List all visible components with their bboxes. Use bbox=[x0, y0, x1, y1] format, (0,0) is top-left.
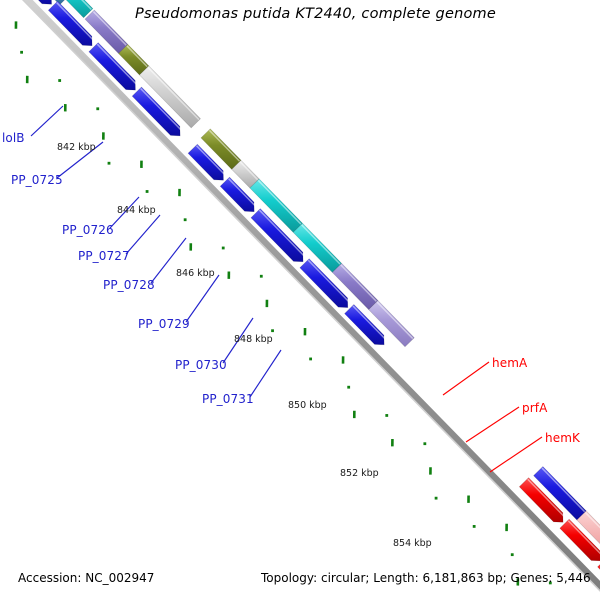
gene-label-pp_0727[interactable]: PP_0727 bbox=[78, 249, 130, 263]
genome-summary-text: Topology: circular; Length: 6,181,863 bp… bbox=[261, 571, 591, 585]
rna-feature-tick bbox=[108, 162, 111, 165]
genome-backbone bbox=[0, 0, 600, 600]
gene-label-pp_0728[interactable]: PP_0728 bbox=[103, 278, 155, 292]
rna-feature-tick bbox=[58, 79, 61, 82]
scale-tick-label: 846 kbp bbox=[176, 268, 215, 279]
gene-label-pp_0726[interactable]: PP_0726 bbox=[62, 223, 114, 237]
leader-line bbox=[186, 275, 219, 322]
rna-feature-tick bbox=[271, 329, 274, 332]
leader-line bbox=[466, 407, 519, 442]
rna-feature-tick bbox=[222, 247, 225, 250]
gene-tracks bbox=[19, 0, 600, 600]
rna-feature-tick bbox=[347, 386, 350, 389]
scale-tick-label: 848 kbp bbox=[234, 334, 273, 345]
gene-label-hemk[interactable]: hemK bbox=[545, 431, 580, 445]
scale-tick-label: 852 kbp bbox=[340, 468, 379, 479]
gene-label-pp_0725[interactable]: PP_0725 bbox=[11, 173, 63, 187]
scale-tick-label: 842 kbp bbox=[57, 142, 96, 153]
rna-feature-tick bbox=[435, 497, 438, 500]
rna-feature-tick bbox=[511, 553, 514, 556]
rna-feature-tick bbox=[473, 525, 476, 528]
rna-feature-tick bbox=[309, 358, 312, 361]
map-title: Pseudomonas putida KT2440, complete geno… bbox=[135, 6, 496, 22]
gene-track bbox=[201, 129, 414, 347]
leader-line bbox=[250, 350, 281, 397]
gene-label-pp_0731[interactable]: PP_0731 bbox=[202, 392, 254, 406]
leader-line bbox=[31, 106, 63, 136]
genome-map-canvas bbox=[0, 0, 600, 600]
gene-feature[interactable] bbox=[85, 10, 128, 53]
gene-label-lolb[interactable]: lolB bbox=[2, 131, 25, 145]
scale-tick-label: 854 kbp bbox=[393, 538, 432, 549]
rna-feature-tick bbox=[385, 414, 388, 417]
rna-feature-tick bbox=[96, 107, 99, 110]
rna-feature-ticks bbox=[16, 21, 552, 585]
leader-line bbox=[443, 362, 489, 395]
leader-line bbox=[490, 437, 542, 472]
leader-line bbox=[126, 215, 160, 254]
genome-map-viewer: Pseudomonas putida KT2440, complete geno… bbox=[0, 0, 600, 600]
rna-feature-tick bbox=[184, 218, 187, 221]
scale-tick-label: 850 kbp bbox=[288, 400, 327, 411]
gene-track bbox=[188, 144, 385, 345]
gene-feature[interactable] bbox=[293, 223, 341, 272]
gene-label-pp_0730[interactable]: PP_0730 bbox=[175, 358, 227, 372]
rna-feature-tick bbox=[146, 190, 149, 193]
gene-label-prfa[interactable]: prfA bbox=[522, 401, 547, 415]
gene-label-hema[interactable]: hemA bbox=[492, 356, 527, 370]
gene-label-pp_0729[interactable]: PP_0729 bbox=[138, 317, 190, 331]
rna-feature-tick bbox=[423, 442, 426, 445]
scale-tick-label: 844 kbp bbox=[117, 205, 156, 216]
accession-text: Accession: NC_002947 bbox=[18, 571, 154, 585]
rna-feature-tick bbox=[260, 275, 263, 278]
rna-feature-tick bbox=[20, 51, 23, 54]
